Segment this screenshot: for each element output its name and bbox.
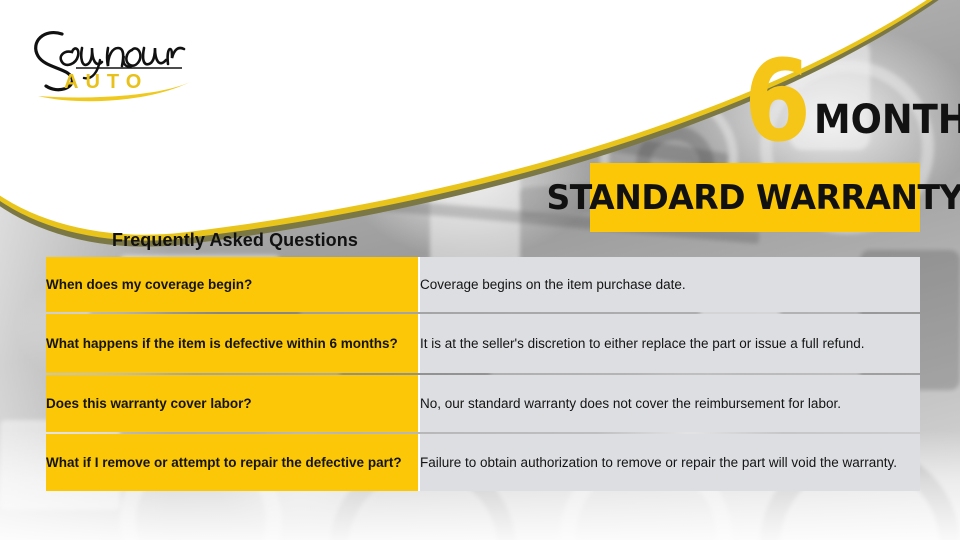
warranty-slide: AUTO 6 MONTH STANDARD WARRANTY Frequentl… [0, 0, 960, 540]
faq-heading: Frequently Asked Questions [112, 230, 358, 251]
seymour-auto-logo[interactable]: AUTO [20, 16, 220, 102]
table-row: Does this warranty cover labor? No, our … [46, 375, 920, 432]
auto-wordmark-icon: AUTO [64, 71, 148, 93]
faq-answer-cell: No, our standard warranty does not cover… [418, 375, 920, 432]
faq-question-cell: When does my coverage begin? [46, 257, 418, 312]
faq-question-cell: What if I remove or attempt to repair th… [46, 434, 418, 491]
svg-text:AUTO: AUTO [64, 71, 148, 93]
table-row: What happens if the item is defective wi… [46, 314, 920, 373]
faq-table: When does my coverage begin? Coverage be… [46, 255, 920, 493]
faq-answer-cell: It is at the seller's discretion to eith… [418, 314, 920, 373]
table-row: When does my coverage begin? Coverage be… [46, 257, 920, 312]
faq-question-cell: Does this warranty cover labor? [46, 375, 418, 432]
warranty-duration-unit: MONTH [814, 100, 960, 140]
table-row: What if I remove or attempt to repair th… [46, 434, 920, 491]
faq-answer-cell: Failure to obtain authorization to remov… [418, 434, 920, 491]
faq-question-cell: What happens if the item is defective wi… [46, 314, 418, 373]
warranty-duration-number: 6 [744, 48, 809, 156]
standard-warranty-title: STANDARD WARRANTY [547, 181, 960, 215]
faq-answer-cell: Coverage begins on the item purchase dat… [418, 257, 920, 312]
standard-warranty-banner: STANDARD WARRANTY [590, 163, 920, 232]
